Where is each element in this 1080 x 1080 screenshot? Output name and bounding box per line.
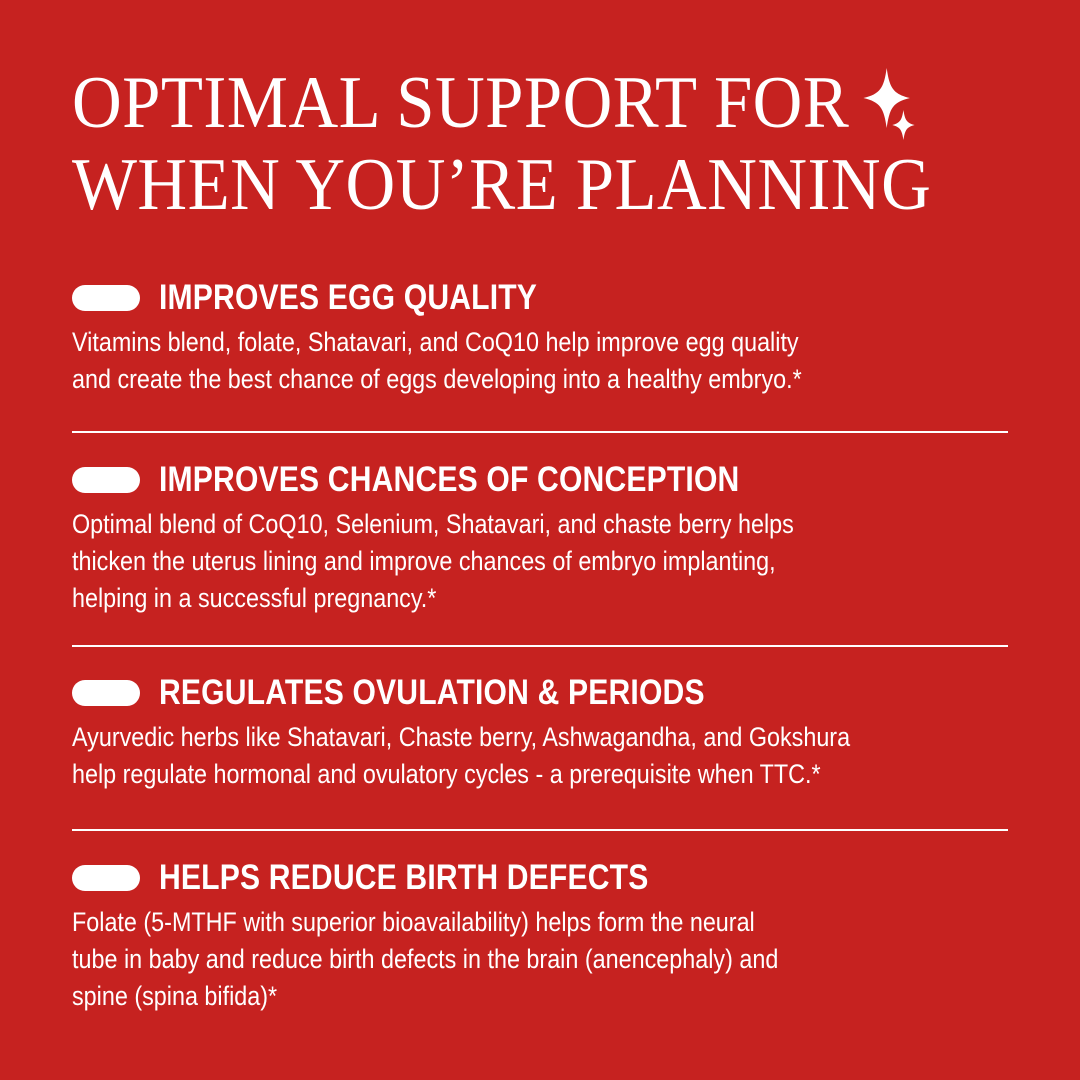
benefit-body-line: Ayurvedic herbs like Shatavari, Chaste b… [72,719,1015,756]
benefit-title: HELPS REDUCE BIRTH DEFECTS [159,860,648,896]
benefit-body-line: spine (spina bifida)* [72,978,1015,1015]
benefit-item: IMPROVES CHANCES OF CONCEPTION Optimal b… [72,462,1017,617]
pill-marker-icon [72,285,140,311]
benefit-body-line: thicken the uterus lining and improve ch… [72,543,1015,580]
benefit-body: Folate (5-MTHF with superior bioavailabi… [72,904,1015,1015]
spacer [72,398,1017,431]
promo-poster: OPTIMAL SUPPORT FOR WHEN YOU’RE PLANNING… [0,0,1080,1080]
benefits-list: IMPROVES EGG QUALITY Vitamins blend, fol… [72,280,1017,1015]
benefit-body-line: and create the best chance of eggs devel… [72,361,1015,398]
benefit-body-line: Vitamins blend, folate, Shatavari, and C… [72,324,1015,361]
benefit-title: IMPROVES CHANCES OF CONCEPTION [159,462,739,498]
benefit-header: IMPROVES EGG QUALITY [72,280,1017,316]
benefit-header: REGULATES OVULATION & PERIODS [72,675,1017,711]
benefit-body-line: tube in baby and reduce birth defects in… [72,941,1015,978]
benefit-item: REGULATES OVULATION & PERIODS Ayurvedic … [72,675,1017,793]
benefit-title: IMPROVES EGG QUALITY [159,280,537,316]
spacer [72,617,1017,645]
spacer [72,793,1017,829]
benefit-header: IMPROVES CHANCES OF CONCEPTION [72,462,1017,498]
spacer [72,647,1017,675]
headline-line-1-text: OPTIMAL SUPPORT FOR [72,62,849,144]
benefit-body-line: Folate (5-MTHF with superior bioavailabi… [72,904,1015,941]
headline: OPTIMAL SUPPORT FOR WHEN YOU’RE PLANNING [72,62,1032,226]
pill-marker-icon [72,865,140,891]
pill-marker-icon [72,467,140,493]
benefit-body: Ayurvedic herbs like Shatavari, Chaste b… [72,719,1015,793]
benefit-item: IMPROVES EGG QUALITY Vitamins blend, fol… [72,280,1017,398]
benefit-item: HELPS REDUCE BIRTH DEFECTS Folate (5-MTH… [72,860,1017,1015]
benefit-header: HELPS REDUCE BIRTH DEFECTS [72,860,1017,896]
benefit-body: Optimal blend of CoQ10, Selenium, Shatav… [72,506,1015,617]
benefit-body-line: help regulate hormonal and ovulatory cyc… [72,756,1015,793]
benefit-body-line: helping in a successful pregnancy.* [72,580,1015,617]
sparkle-icon [859,62,917,142]
benefit-body: Vitamins blend, folate, Shatavari, and C… [72,324,1015,398]
spacer [72,831,1017,860]
headline-line-1: OPTIMAL SUPPORT FOR [72,62,965,144]
benefit-title: REGULATES OVULATION & PERIODS [159,675,705,711]
headline-line-2: WHEN YOU’RE PLANNING [72,144,965,226]
benefit-body-line: Optimal blend of CoQ10, Selenium, Shatav… [72,506,1015,543]
pill-marker-icon [72,680,140,706]
spacer [72,433,1017,462]
